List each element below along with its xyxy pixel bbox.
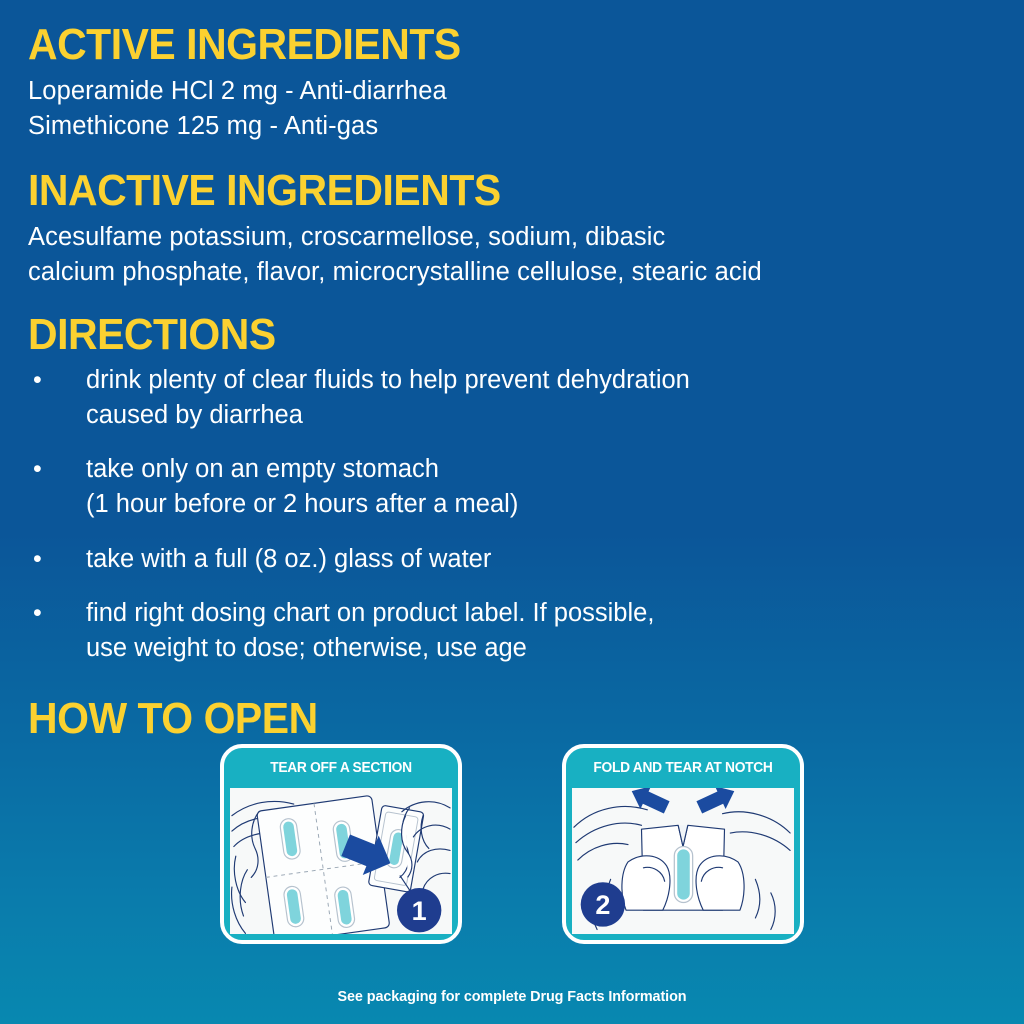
list-item-line: take only on an empty stomach (86, 452, 998, 487)
bullet-dot-icon: • (28, 363, 64, 398)
list-item: • take with a full (8 oz.) glass of wate… (28, 542, 998, 577)
list-item: • take only on an empty stomach (1 hour … (28, 452, 998, 521)
inactive-ingredient-line-1: Acesulfame potassium, croscarmellose, so… (28, 220, 998, 255)
list-item-text: take with a full (8 oz.) glass of water (64, 542, 998, 577)
panel-illustration-step-1: 1 (230, 788, 452, 934)
arrow-up-left-icon (626, 788, 672, 819)
step-number-badge-2: 2 (581, 882, 625, 926)
svg-text:2: 2 (595, 890, 610, 920)
how-to-open-panel-step-1: TEAR OFF A SECTION (220, 744, 462, 944)
list-item-text: find right dosing chart on product label… (64, 596, 998, 665)
active-ingredient-line-2: Simethicone 125 mg - Anti-gas (28, 109, 998, 144)
panel-title-step-2: FOLD AND TEAR AT NOTCH (572, 748, 794, 788)
section-heading-active-ingredients: ACTIVE INGREDIENTS (28, 22, 930, 68)
bullet-dot-icon: • (28, 542, 64, 577)
step-number-badge-1: 1 (397, 888, 441, 932)
list-item-text: take only on an empty stomach (1 hour be… (64, 452, 998, 521)
list-item-line: take with a full (8 oz.) glass of water (86, 542, 998, 577)
list-item-line: caused by diarrhea (86, 398, 998, 433)
list-item: • drink plenty of clear fluids to help p… (28, 363, 998, 432)
bullet-dot-icon: • (28, 452, 64, 487)
footer-note: See packaging for complete Drug Facts In… (20, 988, 1003, 1005)
bullet-dot-icon: • (28, 596, 64, 631)
list-item-line: find right dosing chart on product label… (86, 596, 998, 631)
arrow-up-right-icon (694, 788, 740, 819)
list-item-text: drink plenty of clear fluids to help pre… (64, 363, 998, 432)
tear-off-section-illustration: 1 (230, 788, 452, 934)
panel-title-step-1: TEAR OFF A SECTION (230, 748, 452, 788)
inactive-ingredient-line-2: calcium phosphate, flavor, microcrystall… (28, 255, 998, 290)
section-heading-inactive-ingredients: INACTIVE INGREDIENTS (28, 168, 930, 214)
list-item-line: drink plenty of clear fluids to help pre… (86, 363, 998, 398)
directions-list: • drink plenty of clear fluids to help p… (28, 363, 998, 666)
svg-text:1: 1 (412, 896, 427, 926)
section-heading-how-to-open: HOW TO OPEN (28, 696, 930, 742)
fold-and-tear-illustration: 2 (572, 788, 794, 934)
list-item: • find right dosing chart on product lab… (28, 596, 998, 665)
list-item-line: (1 hour before or 2 hours after a meal) (86, 487, 998, 522)
list-item-line: use weight to dose; otherwise, use age (86, 631, 998, 666)
panel-illustration-step-2: 2 (572, 788, 794, 934)
how-to-open-panel-step-2: FOLD AND TEAR AT NOTCH (562, 744, 804, 944)
how-to-open-panels: TEAR OFF A SECTION (0, 744, 1024, 944)
section-heading-directions: DIRECTIONS (28, 312, 930, 358)
active-ingredient-line-1: Loperamide HCl 2 mg - Anti-diarrhea (28, 74, 998, 109)
